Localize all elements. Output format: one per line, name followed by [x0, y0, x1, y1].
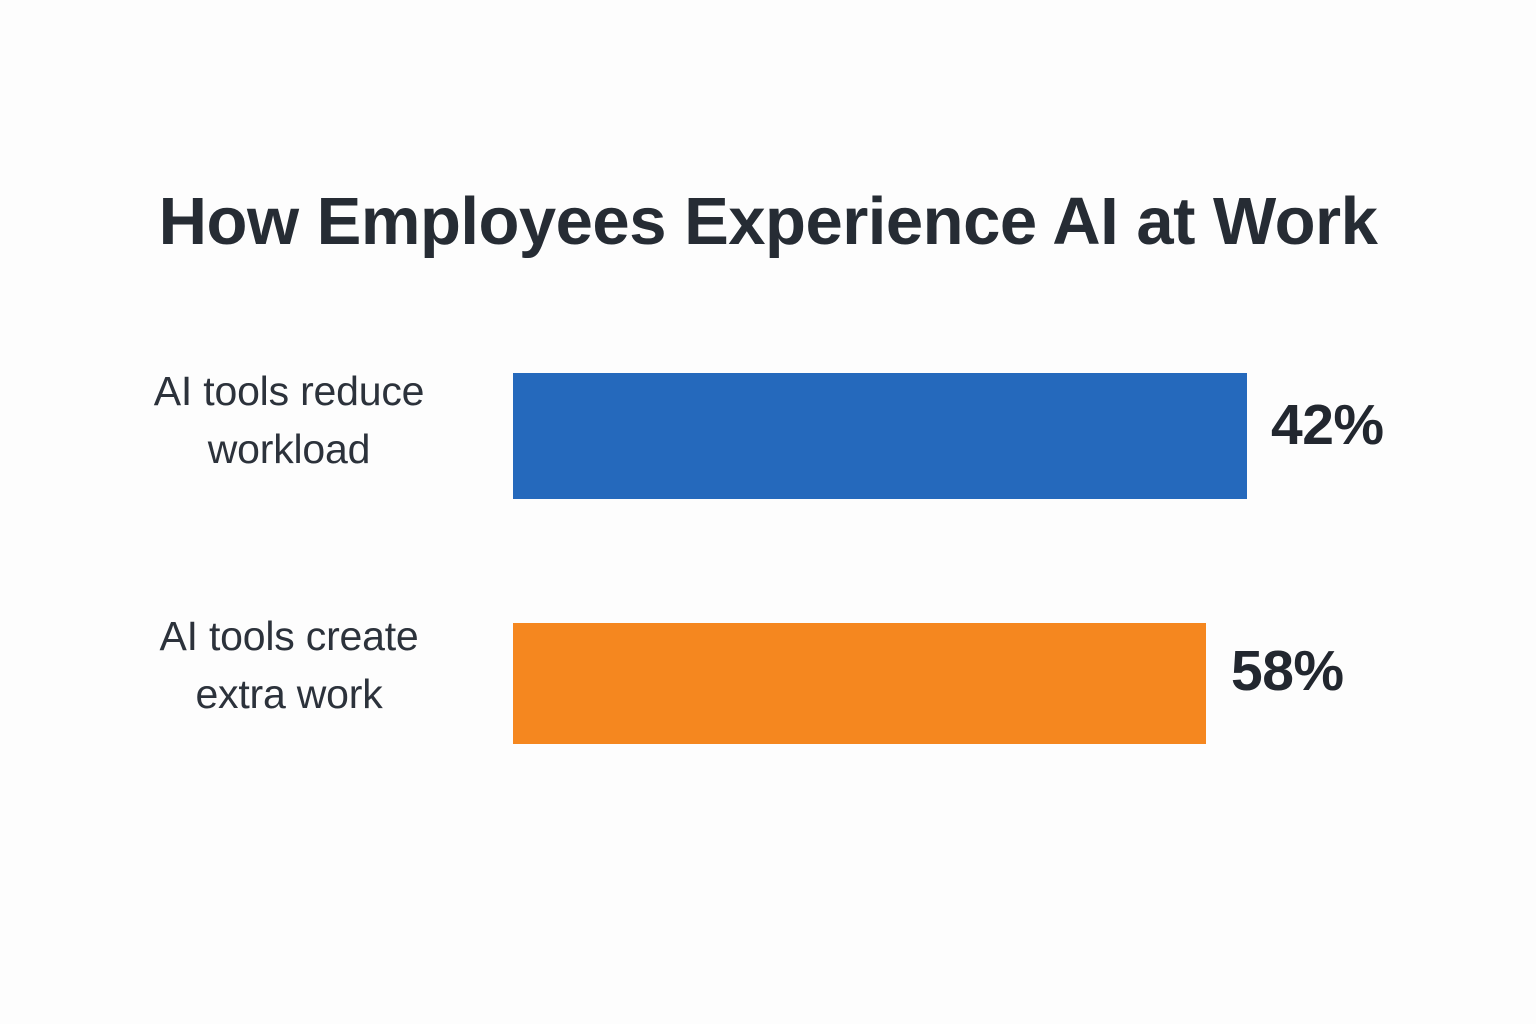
bar-segment[interactable]	[513, 623, 1206, 744]
bar-category-label-line: AI tools create	[110, 607, 468, 665]
bar-row: AI tools create extra work 58%	[0, 565, 1536, 755]
plot-area: AI tools reduce workload 42% AI tools cr…	[0, 340, 1536, 760]
bar-segment[interactable]	[513, 373, 1247, 499]
bar-row: AI tools reduce workload 42%	[0, 340, 1536, 530]
bar-category-label-line: AI tools reduce	[110, 362, 468, 420]
chart-canvas: How Employees Experience AI at Work AI t…	[0, 0, 1536, 1024]
bar-category-label-line: extra work	[110, 665, 468, 723]
bar-value-label: 58%	[1231, 638, 1344, 704]
bar-value-label: 42%	[1271, 392, 1384, 458]
bar-category-label: AI tools reduce workload	[110, 362, 468, 478]
bar-category-label-line: workload	[110, 420, 468, 478]
chart-title: How Employees Experience AI at Work	[0, 188, 1536, 255]
bar-category-label: AI tools create extra work	[110, 607, 468, 723]
bar-track	[513, 623, 1536, 744]
